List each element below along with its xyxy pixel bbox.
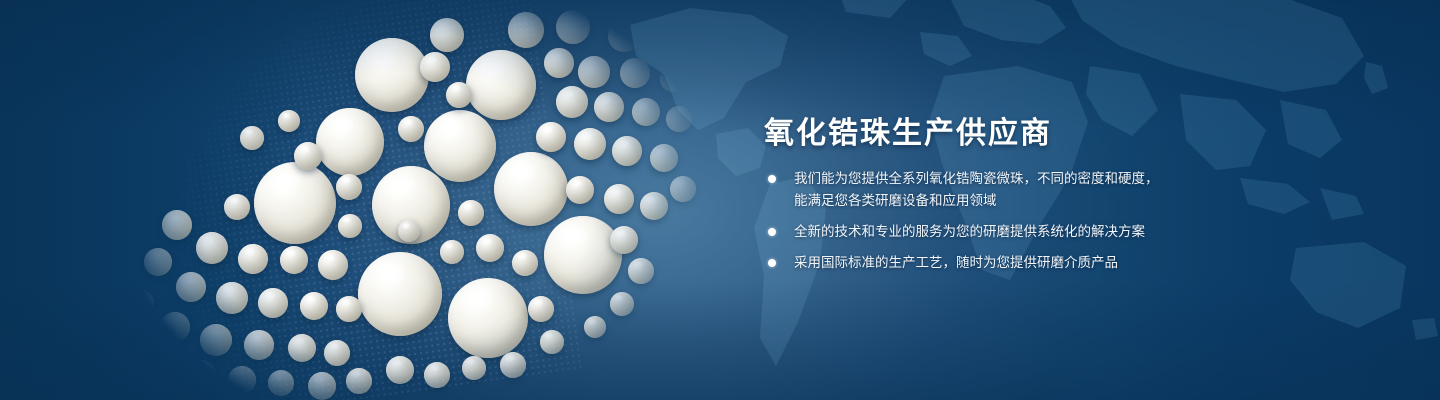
banner-bullet-list: 我们能为您提供全系列氧化锆陶瓷微珠，不同的密度和硬度， 能满足您各类研磨设备和应…: [766, 168, 1236, 283]
banner-text-block: 氧化锆珠生产供应商 我们能为您提供全系列氧化锆陶瓷微珠，不同的密度和硬度， 能满…: [764, 0, 1264, 400]
bullet-text-line1: 我们能为您提供全系列氧化锆陶瓷微珠，不同的密度和硬度，: [794, 171, 1159, 187]
list-item: 全新的技术和专业的服务为您的研磨提供系统化的解决方案: [766, 221, 1236, 243]
zirconia-beads-image: [0, 0, 760, 400]
bullet-text-line1: 全新的技术和专业的服务为您的研磨提供系统化的解决方案: [794, 224, 1145, 240]
bullet-dot-icon: [768, 228, 776, 236]
bullet-text-line2: 能满足您各类研磨设备和应用领域: [794, 190, 1236, 212]
list-item: 采用国际标准的生产工艺，随时为您提供研磨介质产品: [766, 252, 1236, 274]
hero-banner: 氧化锆珠生产供应商 我们能为您提供全系列氧化锆陶瓷微珠，不同的密度和硬度， 能满…: [0, 0, 1440, 400]
bullet-dot-icon: [768, 175, 776, 183]
bullet-dot-icon: [768, 259, 776, 267]
banner-headline: 氧化锆珠生产供应商: [764, 108, 1052, 152]
list-item: 我们能为您提供全系列氧化锆陶瓷微珠，不同的密度和硬度， 能满足您各类研磨设备和应…: [766, 168, 1236, 212]
bullet-text-line1: 采用国际标准的生产工艺，随时为您提供研磨介质产品: [794, 255, 1118, 271]
